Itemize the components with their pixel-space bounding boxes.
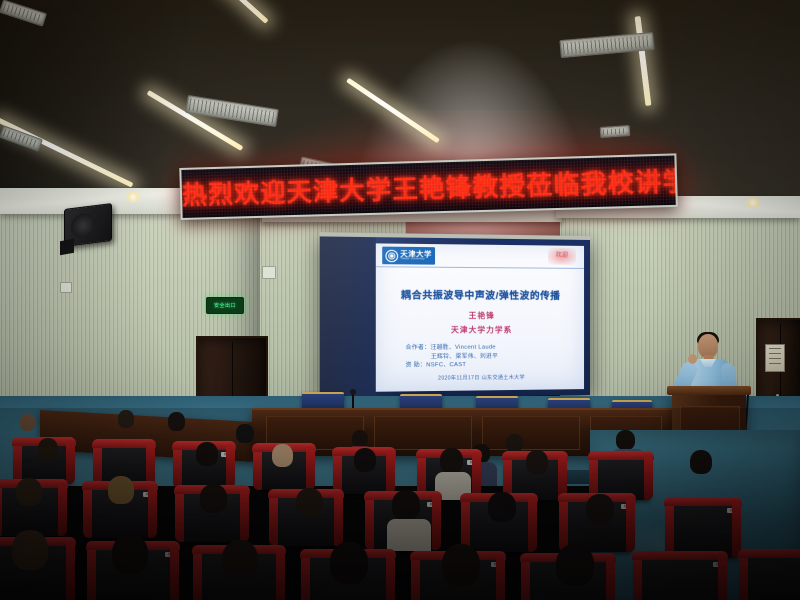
slide-speaker-name: 王艳锋 xyxy=(376,310,584,321)
slide-title: 耦合共振波导中声波/弹性波的传播 xyxy=(376,287,584,302)
head xyxy=(296,488,323,517)
exit-sign-label: 安全出口 xyxy=(214,302,236,309)
head xyxy=(108,476,134,504)
head xyxy=(586,494,614,524)
seat-number-label: 排 xyxy=(427,502,436,507)
banner-text: 热烈欢迎天津大学王艳锋教授莅临我校讲学 xyxy=(181,162,675,212)
emergency-exit-sign: 安全出口 xyxy=(206,297,244,314)
podium-top xyxy=(667,386,751,395)
head xyxy=(16,478,42,506)
slide-red-seal: 欢迎 xyxy=(548,248,576,265)
head xyxy=(272,444,293,467)
university-seal-icon xyxy=(385,249,398,262)
head xyxy=(20,414,35,431)
seat[interactable]: 排 xyxy=(636,556,724,600)
head xyxy=(236,424,254,443)
slide-affiliation: 天津大学力学系 xyxy=(376,324,584,336)
body xyxy=(387,519,431,551)
credit-line: 合作者：汪越胜、Vincent Laude xyxy=(406,343,499,352)
ceiling-air-vent xyxy=(600,125,631,138)
credit-line: 资 助：NSFC、CAST xyxy=(406,361,499,370)
wall-switch-plate[interactable] xyxy=(262,266,276,279)
head xyxy=(488,492,516,522)
slide-date-venue: 2020年11月17日 山东交通土木大学 xyxy=(376,373,584,382)
head xyxy=(118,410,134,428)
head xyxy=(616,430,635,450)
head xyxy=(354,448,376,472)
head xyxy=(112,534,148,574)
seat[interactable]: 排 xyxy=(668,502,738,558)
recessed-downlight xyxy=(124,192,142,202)
seat-number-label: 排 xyxy=(727,508,736,513)
seat-number-label: 排 xyxy=(221,452,230,457)
seat-number-label: 排 xyxy=(467,460,476,465)
seat-headrest xyxy=(664,497,742,506)
seat-number-label: 排 xyxy=(713,562,722,567)
head xyxy=(526,450,548,474)
head xyxy=(440,448,463,473)
tianjin-university-logo: 天津大学 Tianjin University xyxy=(382,247,435,265)
seat-number-label: 排 xyxy=(165,552,174,557)
speaker-bracket xyxy=(60,239,74,255)
seat-headrest xyxy=(588,451,654,460)
lecture-hall-photo: 安全出口 热烈欢迎天津大学王艳锋教授莅临我校讲学 天津大学 Tianjin Un… xyxy=(0,0,800,600)
logo-english-name: Tianjin University xyxy=(400,258,432,261)
head xyxy=(442,544,480,586)
wall-switch-plate[interactable] xyxy=(60,282,72,293)
seat-headrest xyxy=(92,439,156,448)
presentation-slide: 天津大学 Tianjin University 欢迎 耦合共振波导中声波/弹性波… xyxy=(376,243,584,391)
seat-number-label: 排 xyxy=(143,492,152,497)
recessed-downlight xyxy=(744,198,762,208)
head xyxy=(12,530,48,570)
head xyxy=(38,438,58,460)
door-notice-sign xyxy=(765,344,785,372)
seat-number-label: 排 xyxy=(621,504,630,509)
screen-letterbox xyxy=(320,236,376,398)
projection-screen: 天津大学 Tianjin University 欢迎 耦合共振波导中声波/弹性波… xyxy=(320,232,590,399)
head xyxy=(556,544,594,586)
head xyxy=(330,542,368,584)
presenter-hand xyxy=(688,354,697,364)
slide-credits: 合作者：汪越胜、Vincent Laude 王辉铃、梁军伟、刘进平 资 助：NS… xyxy=(406,343,499,370)
head xyxy=(196,442,218,466)
head xyxy=(168,412,185,431)
seat-headrest xyxy=(632,551,728,560)
seat-headrest xyxy=(738,549,800,558)
head xyxy=(352,430,368,447)
seat-number-label: 排 xyxy=(491,562,500,567)
head xyxy=(392,490,420,520)
head xyxy=(200,484,227,513)
head xyxy=(222,540,258,580)
audience-seating: 排 排 排 排 排 xyxy=(0,408,800,600)
head xyxy=(690,450,712,474)
credit-line: 王辉铃、梁军伟、刘进平 xyxy=(406,352,499,361)
head xyxy=(506,434,523,452)
seat[interactable] xyxy=(742,554,800,600)
